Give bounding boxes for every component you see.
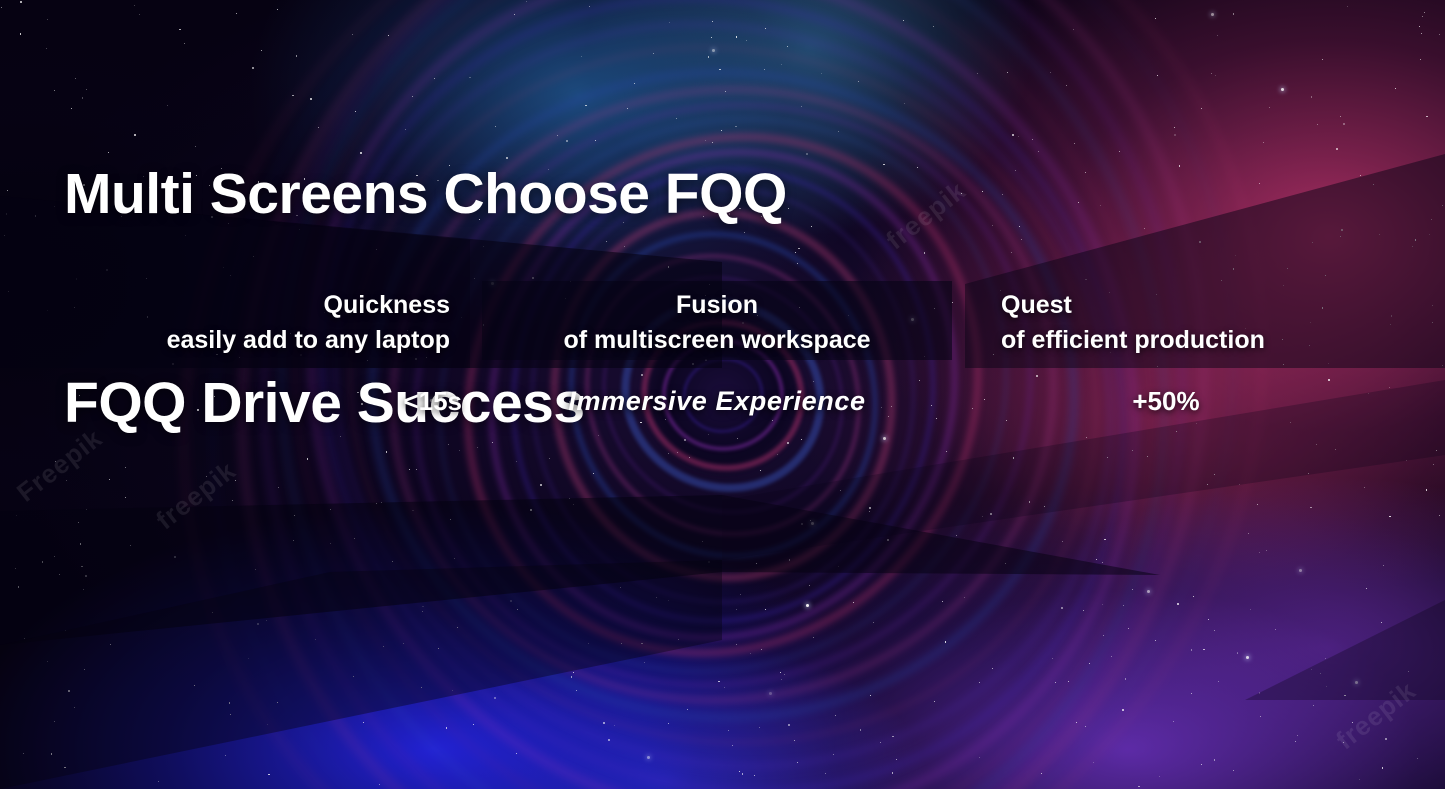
star xyxy=(1290,422,1291,423)
star xyxy=(516,753,517,754)
star xyxy=(257,623,259,625)
star xyxy=(1201,764,1202,765)
star xyxy=(736,609,737,610)
star xyxy=(158,781,159,782)
star xyxy=(1018,136,1019,137)
star xyxy=(977,73,978,74)
star xyxy=(64,767,65,768)
star xyxy=(1085,279,1086,280)
star xyxy=(992,668,993,669)
star xyxy=(268,774,269,775)
star xyxy=(1433,464,1434,465)
star xyxy=(1266,550,1267,551)
star xyxy=(825,773,826,774)
star xyxy=(780,672,781,673)
star xyxy=(588,643,589,644)
star xyxy=(446,727,447,728)
star xyxy=(809,585,810,586)
star xyxy=(1076,722,1077,723)
star xyxy=(813,381,814,382)
star xyxy=(1439,515,1440,516)
star xyxy=(1208,619,1209,620)
star xyxy=(1406,460,1407,461)
star xyxy=(1389,516,1390,517)
star xyxy=(934,701,935,702)
star xyxy=(1011,252,1012,253)
star xyxy=(1281,88,1284,91)
star xyxy=(1311,669,1312,670)
star xyxy=(4,235,5,236)
star xyxy=(801,106,802,107)
star xyxy=(1007,72,1008,73)
star xyxy=(1239,484,1240,485)
star xyxy=(724,687,725,688)
star xyxy=(1013,457,1014,458)
star xyxy=(801,439,802,440)
star xyxy=(1207,484,1208,485)
star xyxy=(1283,364,1284,365)
star xyxy=(1203,649,1204,650)
star xyxy=(1417,758,1418,759)
star xyxy=(1340,116,1341,117)
star xyxy=(452,690,453,691)
star xyxy=(1431,219,1432,220)
star xyxy=(24,638,25,639)
star xyxy=(1214,474,1215,475)
star xyxy=(421,687,422,688)
star xyxy=(784,674,785,675)
star xyxy=(267,724,268,725)
star xyxy=(1191,649,1192,650)
star xyxy=(728,730,729,731)
star xyxy=(924,252,925,253)
star xyxy=(1233,770,1234,771)
star xyxy=(54,90,55,91)
star xyxy=(1196,423,1197,424)
star xyxy=(668,723,669,724)
star xyxy=(277,702,278,703)
star xyxy=(806,604,809,607)
star xyxy=(982,516,983,517)
star xyxy=(1005,563,1006,564)
star xyxy=(811,226,812,227)
star xyxy=(1061,607,1063,609)
star xyxy=(494,697,496,699)
star xyxy=(873,622,874,623)
star xyxy=(1429,234,1430,235)
star xyxy=(1235,255,1236,256)
star xyxy=(797,762,798,763)
star xyxy=(1250,609,1251,610)
star xyxy=(1352,722,1353,723)
star xyxy=(16,515,17,516)
star xyxy=(54,721,55,722)
star xyxy=(1341,229,1343,231)
star xyxy=(1100,205,1101,206)
star xyxy=(1395,88,1396,89)
star xyxy=(1214,759,1215,760)
star xyxy=(869,511,870,512)
star xyxy=(457,627,458,628)
star xyxy=(919,380,920,381)
star xyxy=(787,442,789,444)
star xyxy=(1083,610,1084,611)
star xyxy=(972,408,973,409)
star xyxy=(1111,656,1112,657)
star xyxy=(1155,640,1156,641)
star xyxy=(42,561,43,562)
star xyxy=(917,167,918,168)
star xyxy=(984,399,985,400)
star xyxy=(794,740,795,741)
star xyxy=(718,681,719,682)
star xyxy=(892,736,893,737)
star xyxy=(110,644,111,645)
star xyxy=(74,707,75,708)
star xyxy=(942,601,943,602)
star xyxy=(1364,487,1365,488)
star xyxy=(1,7,2,8)
star xyxy=(1336,148,1338,150)
star xyxy=(811,522,814,525)
star xyxy=(979,682,980,683)
star xyxy=(1155,18,1156,19)
star xyxy=(1132,450,1133,451)
quest-heading: Quest xyxy=(1001,288,1431,323)
star xyxy=(1128,628,1129,629)
star xyxy=(1326,686,1327,687)
star xyxy=(656,597,657,598)
star xyxy=(1424,12,1425,13)
star xyxy=(47,19,48,20)
star xyxy=(739,771,740,772)
star xyxy=(1157,366,1158,367)
star xyxy=(1312,242,1313,243)
star xyxy=(139,14,140,15)
star xyxy=(1419,26,1420,27)
star xyxy=(1201,108,1202,109)
star xyxy=(1259,692,1260,693)
star xyxy=(1089,663,1090,664)
star xyxy=(1257,504,1258,505)
star xyxy=(1132,589,1133,590)
star xyxy=(8,291,9,292)
star xyxy=(1096,559,1097,560)
fusion-subheading: of multiscreen workspace xyxy=(482,323,952,358)
star xyxy=(1119,151,1120,152)
star xyxy=(795,252,796,253)
star xyxy=(573,672,574,673)
star xyxy=(1383,565,1384,566)
star xyxy=(236,13,237,14)
star xyxy=(740,594,741,595)
star xyxy=(982,191,983,192)
star xyxy=(641,643,642,644)
star xyxy=(383,646,384,647)
star xyxy=(1044,506,1045,507)
star xyxy=(1233,268,1234,269)
star xyxy=(1102,562,1103,563)
star xyxy=(1233,13,1234,14)
star xyxy=(1074,143,1075,144)
star xyxy=(1426,489,1427,490)
star xyxy=(1038,151,1039,152)
star xyxy=(608,739,610,741)
star xyxy=(1179,165,1180,166)
star xyxy=(1311,96,1312,97)
star xyxy=(1246,656,1249,659)
star xyxy=(1157,75,1158,76)
star xyxy=(1335,449,1336,450)
star xyxy=(1360,175,1361,176)
star xyxy=(1012,134,1014,136)
star xyxy=(1199,241,1201,243)
star xyxy=(1032,139,1033,140)
star xyxy=(1442,205,1443,206)
star xyxy=(1174,134,1176,136)
star xyxy=(1055,682,1056,683)
star xyxy=(1174,127,1175,128)
star xyxy=(1343,742,1344,743)
star xyxy=(992,225,993,226)
star xyxy=(644,662,645,663)
feature-column-fusion: Fusion of multiscreen workspace xyxy=(482,288,952,358)
star xyxy=(1093,762,1094,763)
star xyxy=(1078,202,1079,203)
star xyxy=(835,715,836,716)
star xyxy=(687,709,688,710)
star xyxy=(1359,779,1360,780)
star xyxy=(510,600,512,602)
fusion-metric: Immersive Experience xyxy=(482,386,952,417)
star xyxy=(422,606,423,607)
star xyxy=(1015,170,1016,171)
star xyxy=(838,131,839,132)
star xyxy=(1211,73,1212,74)
star xyxy=(83,589,84,590)
star xyxy=(883,164,884,165)
star xyxy=(736,644,737,645)
star xyxy=(1422,16,1423,17)
star xyxy=(1382,767,1383,768)
star xyxy=(1191,693,1192,694)
star xyxy=(1006,420,1007,421)
star xyxy=(990,513,992,515)
star xyxy=(55,461,56,462)
star xyxy=(1328,379,1330,381)
star xyxy=(1343,123,1345,125)
star xyxy=(1287,268,1288,269)
star xyxy=(54,206,55,207)
star xyxy=(59,574,60,575)
star xyxy=(1102,604,1103,605)
star xyxy=(1344,695,1345,696)
star xyxy=(769,692,772,695)
star xyxy=(1177,603,1179,605)
star xyxy=(903,20,904,21)
star xyxy=(620,587,621,588)
star xyxy=(1138,786,1139,787)
star xyxy=(35,215,36,216)
star xyxy=(1340,236,1341,237)
star xyxy=(956,535,957,536)
star xyxy=(1248,533,1249,534)
star xyxy=(1002,194,1003,195)
star xyxy=(47,661,48,662)
star xyxy=(1308,473,1309,474)
star xyxy=(1021,239,1022,240)
star xyxy=(759,727,760,728)
star xyxy=(1176,431,1177,432)
star xyxy=(1325,275,1326,276)
star xyxy=(1379,234,1380,235)
star xyxy=(20,1,22,3)
star xyxy=(1373,184,1374,185)
star xyxy=(1328,363,1329,364)
quickness-heading: Quickness xyxy=(40,288,450,323)
star xyxy=(788,208,789,209)
quickness-subheading: easily add to any laptop xyxy=(40,323,450,358)
star xyxy=(1420,59,1421,60)
star xyxy=(1299,569,1302,572)
star xyxy=(961,193,962,194)
star xyxy=(781,679,782,680)
star xyxy=(1366,588,1367,589)
star xyxy=(1041,773,1042,774)
star xyxy=(813,637,814,638)
star xyxy=(1107,457,1108,458)
feature-column-quest: Quest of efficient production xyxy=(1001,288,1431,358)
star xyxy=(801,523,803,525)
star xyxy=(1103,635,1104,636)
star xyxy=(229,702,230,703)
star xyxy=(1347,6,1348,7)
star xyxy=(979,757,980,758)
star xyxy=(65,630,66,631)
star xyxy=(742,773,743,774)
star xyxy=(668,600,669,601)
star xyxy=(1085,726,1086,727)
star xyxy=(754,775,755,776)
star xyxy=(1269,107,1270,108)
star xyxy=(892,772,893,773)
star xyxy=(1408,671,1409,672)
fusion-heading: Fusion xyxy=(482,288,952,323)
star xyxy=(1066,85,1067,86)
star xyxy=(576,690,577,691)
star xyxy=(15,568,16,569)
star xyxy=(1147,590,1150,593)
star xyxy=(1310,507,1311,508)
star xyxy=(403,643,404,644)
star xyxy=(1432,322,1433,323)
star xyxy=(840,490,841,491)
star xyxy=(869,507,871,509)
star xyxy=(1322,59,1323,60)
star xyxy=(896,759,897,760)
star xyxy=(1297,735,1298,736)
star xyxy=(1432,305,1433,306)
star xyxy=(797,263,798,264)
star xyxy=(1123,605,1124,606)
star xyxy=(589,6,590,7)
star xyxy=(789,559,790,560)
star xyxy=(1218,681,1219,682)
star xyxy=(1283,285,1284,286)
star xyxy=(788,724,790,726)
star xyxy=(821,73,822,74)
star xyxy=(1144,228,1145,229)
star xyxy=(1062,541,1063,542)
star xyxy=(1320,673,1321,674)
star xyxy=(1211,13,1214,16)
star xyxy=(1019,226,1020,227)
star xyxy=(1068,681,1069,682)
star xyxy=(750,653,751,654)
star xyxy=(1263,142,1264,143)
star xyxy=(363,722,364,723)
star xyxy=(1221,280,1222,281)
star xyxy=(571,676,572,677)
star xyxy=(18,586,19,587)
star xyxy=(1122,709,1124,711)
star xyxy=(1385,738,1387,740)
star xyxy=(422,611,423,612)
star xyxy=(945,641,946,642)
star xyxy=(1313,705,1314,706)
star xyxy=(838,566,839,567)
star xyxy=(1125,678,1126,679)
star xyxy=(23,753,24,754)
star xyxy=(964,597,965,598)
star xyxy=(438,648,439,649)
star xyxy=(68,690,70,692)
star xyxy=(1214,630,1215,631)
star xyxy=(858,81,859,82)
star xyxy=(936,418,937,419)
star xyxy=(277,9,278,10)
star xyxy=(1412,246,1413,247)
star xyxy=(1052,658,1053,659)
star xyxy=(1442,365,1443,366)
star xyxy=(1316,444,1317,445)
star xyxy=(1368,393,1369,394)
star xyxy=(614,725,615,726)
star xyxy=(1295,741,1296,742)
star xyxy=(603,722,605,724)
star xyxy=(1259,183,1260,184)
star xyxy=(1036,375,1038,377)
star xyxy=(1436,450,1437,451)
star xyxy=(880,742,881,743)
quest-metric: +50% xyxy=(1001,386,1331,417)
star xyxy=(933,26,934,27)
star xyxy=(798,248,799,249)
star xyxy=(1237,653,1238,654)
star xyxy=(1029,501,1030,502)
star xyxy=(1426,116,1427,117)
star xyxy=(248,658,249,659)
star xyxy=(1073,29,1074,30)
star xyxy=(1389,387,1390,388)
star xyxy=(647,756,650,759)
quickness-metric: <15s xyxy=(40,386,462,417)
star xyxy=(379,784,380,785)
star xyxy=(84,669,85,670)
star xyxy=(230,714,231,715)
star xyxy=(765,609,766,610)
star xyxy=(853,602,854,603)
